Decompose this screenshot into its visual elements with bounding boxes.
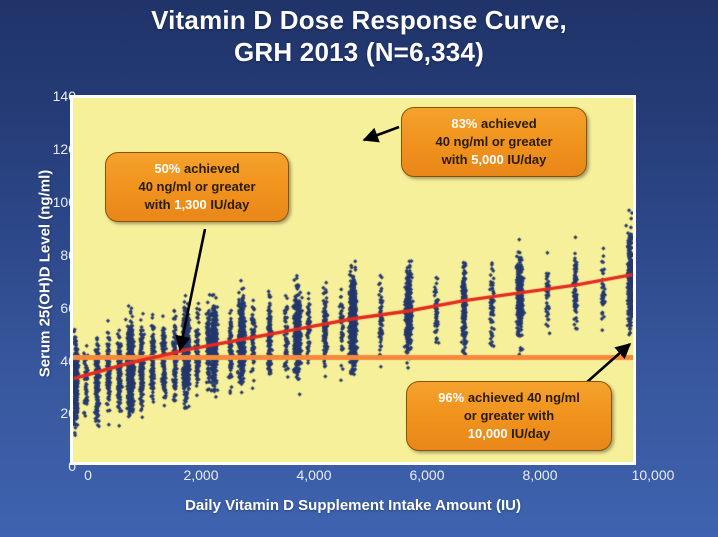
callout-83-pct: 83% (451, 116, 477, 131)
callout-83-line3: with 5,000 IU/day (412, 151, 576, 169)
callout-50-line2: 40 ng/ml or greater (116, 178, 278, 196)
callout-96-dose: 10,000 (468, 426, 508, 441)
x-tick-2000: 2,000 (161, 468, 241, 482)
page-title: Vitamin D Dose Response Curve, GRH 2013 … (0, 4, 718, 68)
callout-50-line3: with 1,300 IU/day (116, 196, 278, 214)
callout-83-with: with (442, 152, 472, 167)
callout-96-achieved: achieved 40 ng/ml (464, 390, 580, 405)
callout-83-dose: 5,000 (471, 152, 504, 167)
title-line-1: Vitamin D Dose Response Curve, (151, 5, 567, 35)
callout-83-percent[interactable]: 83% achieved 40 ng/ml or greater with 5,… (401, 107, 587, 177)
callout-96-percent[interactable]: 96% achieved 40 ng/ml or greater with 10… (406, 381, 612, 451)
callout-50-achieved: achieved (180, 161, 239, 176)
slide: Vitamin D Dose Response Curve, GRH 2013 … (0, 0, 718, 537)
callout-50-percent[interactable]: 50% achieved 40 ng/ml or greater with 1,… (105, 152, 289, 222)
callout-50-unit: IU/day (207, 197, 250, 212)
callout-83-line1: 83% achieved (412, 115, 576, 133)
callout-96-line2: or greater with (417, 407, 601, 425)
callout-96-line1: 96% achieved 40 ng/ml (417, 389, 601, 407)
title-line-2: GRH 2013 (N=6,334) (0, 36, 718, 68)
callout-50-pct: 50% (154, 161, 180, 176)
callout-50-dose: 1,300 (174, 197, 207, 212)
callout-50-with: with (145, 197, 175, 212)
callout-96-line3: 10,000 IU/day (417, 425, 601, 443)
callout-96-unit: IU/day (508, 426, 551, 441)
callout-50-line1: 50% achieved (116, 160, 278, 178)
x-tick-4000: 4,000 (274, 468, 354, 482)
x-tick-10000: 10,000 (613, 468, 693, 482)
x-tick-8000: 8,000 (500, 468, 580, 482)
x-tick-0: 0 (48, 468, 128, 482)
callout-83-achieved: achieved (477, 116, 536, 131)
callout-83-line2: 40 ng/ml or greater (412, 133, 576, 151)
callout-83-unit: IU/day (504, 152, 547, 167)
x-axis-label: Daily Vitamin D Supplement Intake Amount… (70, 497, 636, 514)
x-tick-6000: 6,000 (387, 468, 467, 482)
callout-96-pct: 96% (438, 390, 464, 405)
